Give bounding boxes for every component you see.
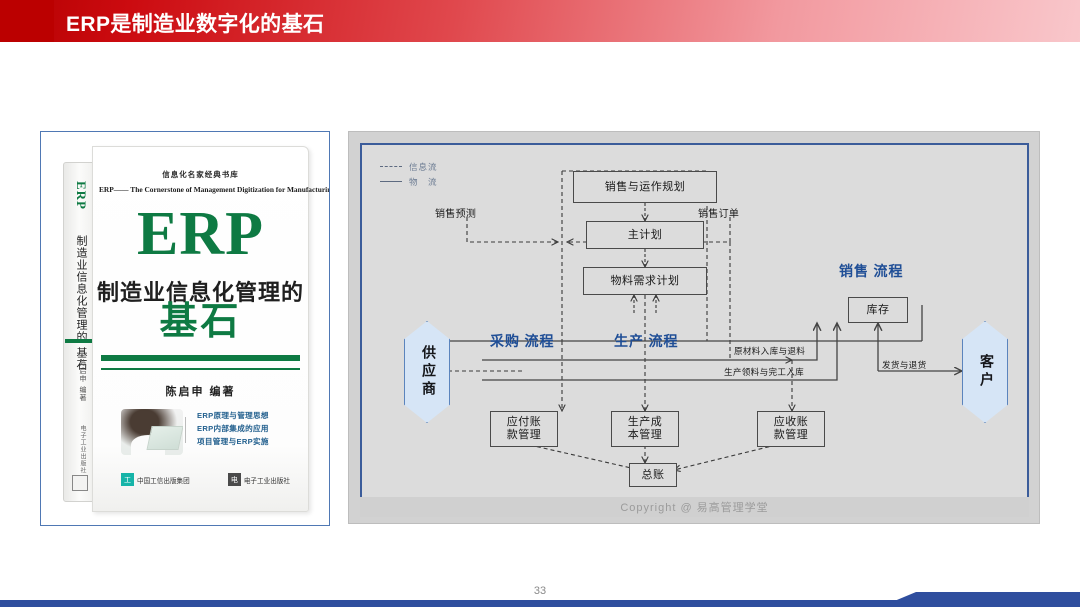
box-general-ledger: 总账 bbox=[629, 463, 677, 487]
book-cover-panel: ERP 制造业信息化管理的 基石 陈启申 编著 电子工业出版社 信息化名家经典书… bbox=[40, 131, 330, 526]
spine-rule bbox=[65, 339, 92, 343]
book-front-cover: 信息化名家经典书库 ERP—— The Cornerstone of Manag… bbox=[92, 146, 309, 512]
label-production-process: 生产 流程 bbox=[614, 331, 679, 351]
book-image: ERP 制造业信息化管理的 基石 陈启申 编著 电子工业出版社 信息化名家经典书… bbox=[63, 146, 309, 512]
publisher-2-logo-icon: 电 bbox=[228, 473, 241, 486]
copyright-text: Copyright @ 易高管理学堂 bbox=[360, 499, 1029, 515]
book-bullet-3: 项目管理与ERP实施 bbox=[197, 435, 301, 448]
page-title: ERP是制造业数字化的基石 bbox=[66, 8, 324, 38]
box-material-requirement-plan: 物料需求计划 bbox=[583, 267, 707, 295]
spine-title-en: ERP bbox=[69, 181, 89, 210]
diagram-legend: 信息流 物 流 bbox=[380, 159, 438, 189]
node-customer: 客户 bbox=[962, 321, 1008, 423]
book-cn-line2: 基石 bbox=[93, 303, 308, 343]
label-sales-order: 销售订单 bbox=[698, 205, 739, 220]
label-wip-inbound: 生产领料与完工入库 bbox=[724, 366, 804, 378]
publisher-1: 工 中国工信出版集团 bbox=[121, 473, 190, 486]
spine-publisher: 电子工业出版社 bbox=[73, 425, 87, 474]
diagram-footer: Copyright @ 易高管理学堂 bbox=[360, 497, 1029, 517]
publisher-1-name: 中国工信出版集团 bbox=[137, 475, 190, 485]
book-publisher-row: 工 中国工信出版集团 电 电子工业出版社 bbox=[121, 473, 290, 486]
label-shipment-return: 发货与退货 bbox=[882, 359, 926, 371]
diagram-canvas: 信息流 物 流 销售与运作规划 主计划 物料需求计划 库存 应付账 款管理 生产… bbox=[360, 143, 1029, 499]
header-accent-block bbox=[0, 0, 54, 42]
erp-flow-diagram-panel: 信息流 物 流 销售与运作规划 主计划 物料需求计划 库存 应付账 款管理 生产… bbox=[348, 131, 1040, 524]
publisher-1-logo-icon: 工 bbox=[121, 473, 134, 486]
publisher-2-name: 电子工业出版社 bbox=[244, 475, 290, 485]
box-sales-operations-planning: 销售与运作规划 bbox=[573, 171, 717, 203]
box-master-plan: 主计划 bbox=[586, 221, 704, 249]
box-accounts-payable: 应付账 款管理 bbox=[490, 411, 558, 447]
box-accounts-receivable: 应收账 款管理 bbox=[757, 411, 825, 447]
solid-line-icon bbox=[380, 181, 402, 182]
legend-item-info-flow: 信息流 bbox=[380, 159, 438, 174]
publisher-2: 电 电子工业出版社 bbox=[228, 473, 290, 486]
box-inventory: 库存 bbox=[848, 297, 908, 323]
book-spine: ERP 制造业信息化管理的 基石 陈启申 编著 电子工业出版社 bbox=[63, 162, 93, 502]
spine-title-cn: 制造业信息化管理的 基石 bbox=[71, 235, 89, 371]
book-series-line: 信息化名家经典书库 bbox=[93, 169, 308, 180]
legend-label-info-flow: 信息流 bbox=[409, 161, 438, 173]
label-sales-forecast: 销售预测 bbox=[435, 205, 476, 220]
book-bullet-1: ERP原理与管理思想 bbox=[197, 409, 301, 422]
book-english-subtitle: ERP—— The Cornerstone of Management Digi… bbox=[99, 185, 302, 194]
slide-header: ERP是制造业数字化的基石 bbox=[0, 0, 1080, 42]
box-production-cost: 生产成 本管理 bbox=[611, 411, 679, 447]
legend-label-material-flow: 物 流 bbox=[409, 176, 438, 188]
book-author: 陈启申 编著 bbox=[93, 383, 308, 399]
book-bullet-list: ERP原理与管理思想 ERP内部集成的应用 项目管理与ERP实施 bbox=[197, 409, 301, 448]
book-big-title: ERP bbox=[93, 203, 308, 265]
label-material-inbound: 原材料入库与退料 bbox=[734, 345, 805, 357]
label-purchase-process: 采购 流程 bbox=[490, 331, 555, 351]
node-supplier: 供应商 bbox=[404, 321, 450, 423]
book-rule-thin bbox=[101, 368, 300, 370]
spine-publisher-logo-icon bbox=[72, 475, 88, 491]
dashed-line-icon bbox=[380, 166, 402, 167]
legend-item-material-flow: 物 流 bbox=[380, 174, 438, 189]
label-sales-process: 销售 流程 bbox=[839, 261, 904, 281]
spine-author: 陈启申 编著 bbox=[73, 359, 87, 402]
book-bullet-2: ERP内部集成的应用 bbox=[197, 422, 301, 435]
book-author-photo bbox=[121, 409, 183, 455]
book-rule-thick bbox=[101, 355, 300, 361]
photo-laptop-shape bbox=[146, 426, 183, 450]
